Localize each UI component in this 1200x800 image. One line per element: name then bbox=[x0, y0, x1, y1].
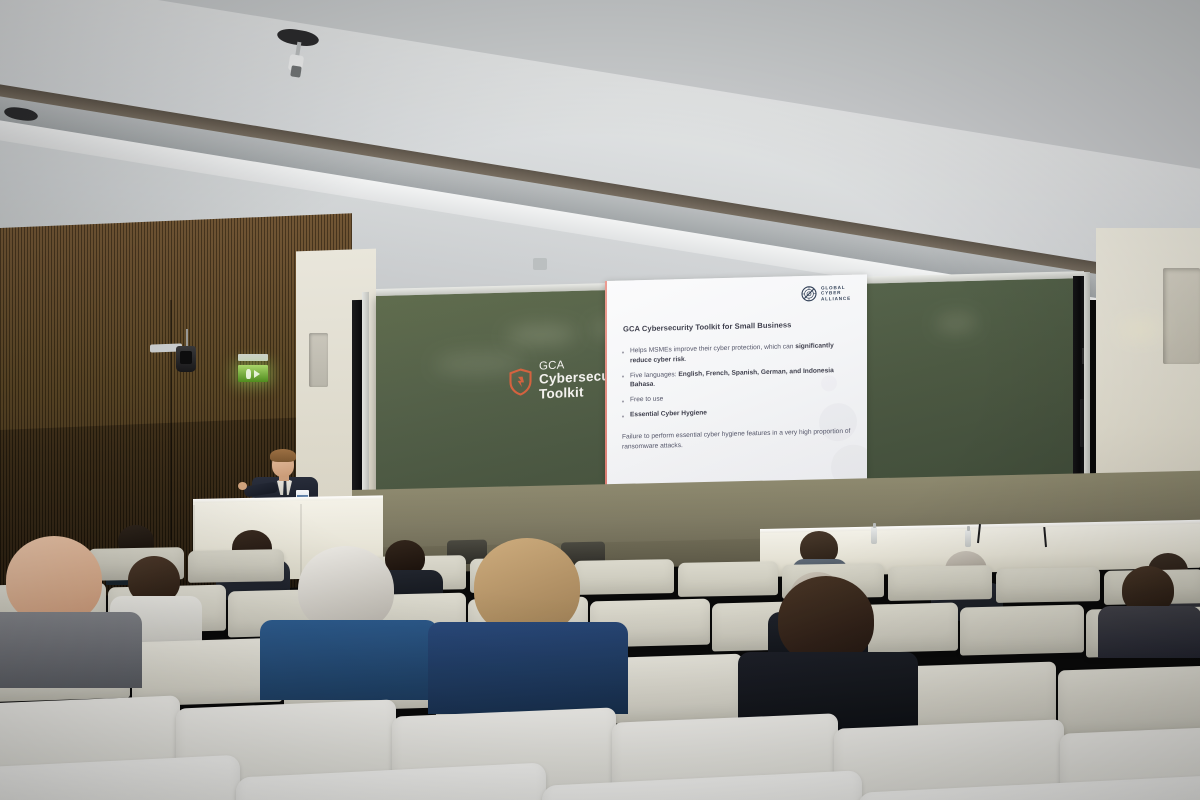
bullet-dot-icon bbox=[622, 351, 624, 353]
bullet-text: Free to use bbox=[630, 395, 663, 405]
presenter-hair bbox=[270, 449, 296, 462]
wall-recess bbox=[309, 333, 328, 387]
screen-frame-left bbox=[362, 292, 369, 516]
screen-glare bbox=[506, 325, 576, 345]
bullet-dot-icon bbox=[622, 415, 624, 417]
auditorium-seat bbox=[996, 567, 1100, 603]
wall-seam bbox=[170, 300, 172, 540]
running-man-glyph bbox=[246, 369, 251, 379]
global-cyber-alliance-wordmark: GLOBAL CYBER ALLIANCE bbox=[821, 285, 851, 301]
water-bottle-icon bbox=[871, 527, 877, 544]
bullet-text: Essential Cyber Hygiene bbox=[630, 409, 707, 420]
shield-icon bbox=[509, 368, 532, 396]
podium-seam bbox=[300, 504, 302, 578]
gca-line-3: ALLIANCE bbox=[821, 295, 851, 301]
projector-lens-icon bbox=[290, 65, 302, 77]
bullet-dot-icon bbox=[622, 400, 624, 402]
spotlight-icon bbox=[176, 346, 196, 372]
auditorium-seat bbox=[888, 565, 992, 601]
bullet-text: Helps MSMEs improve their cyber protecti… bbox=[630, 341, 854, 366]
wall-recess bbox=[1163, 268, 1200, 364]
bullet-text: Five languages: English, French, Spanish… bbox=[630, 365, 854, 390]
auditorium-seat bbox=[960, 604, 1084, 655]
auditorium-seat bbox=[574, 559, 674, 595]
auditorium-seat bbox=[1058, 666, 1200, 739]
presenter-hand bbox=[238, 482, 247, 490]
global-cyber-alliance-logo: GLOBAL CYBER ALLIANCE bbox=[801, 285, 851, 302]
slide-title: GCA Cybersecurity Toolkit for Small Busi… bbox=[623, 320, 791, 333]
slide-bullet: Essential Cyber Hygiene bbox=[622, 405, 854, 420]
slide-bullet: Helps MSMEs improve their cyber protecti… bbox=[622, 341, 854, 366]
screen-left-column bbox=[352, 300, 362, 510]
bullet-dot-icon bbox=[622, 376, 624, 378]
exit-sign-plate bbox=[238, 354, 268, 361]
exit-sign-icon bbox=[238, 365, 268, 382]
slide-bullet-list: Helps MSMEs improve their cyber protecti… bbox=[622, 341, 854, 426]
global-cyber-alliance-icon bbox=[801, 286, 817, 302]
slide-bullet: Free to use bbox=[622, 390, 854, 405]
lecture-hall-photo: GCA Cybersecurity Toolkit GLOBAL bbox=[0, 0, 1200, 800]
water-bottle-icon bbox=[965, 530, 971, 547]
slide-bullet: Five languages: English, French, Spanish… bbox=[622, 365, 854, 390]
auditorium-seat bbox=[188, 549, 284, 583]
presentation-slide: GLOBAL CYBER ALLIANCE GCA Cybersecurity … bbox=[605, 274, 867, 496]
slide-accent-bar bbox=[605, 281, 607, 496]
exit-arrow-glyph bbox=[254, 370, 260, 378]
ceiling-vent-icon bbox=[533, 258, 547, 270]
slide-closing-note: Failure to perform essential cyber hygie… bbox=[622, 427, 854, 452]
auditorium-seat bbox=[678, 561, 778, 597]
screen-glare bbox=[936, 315, 976, 332]
